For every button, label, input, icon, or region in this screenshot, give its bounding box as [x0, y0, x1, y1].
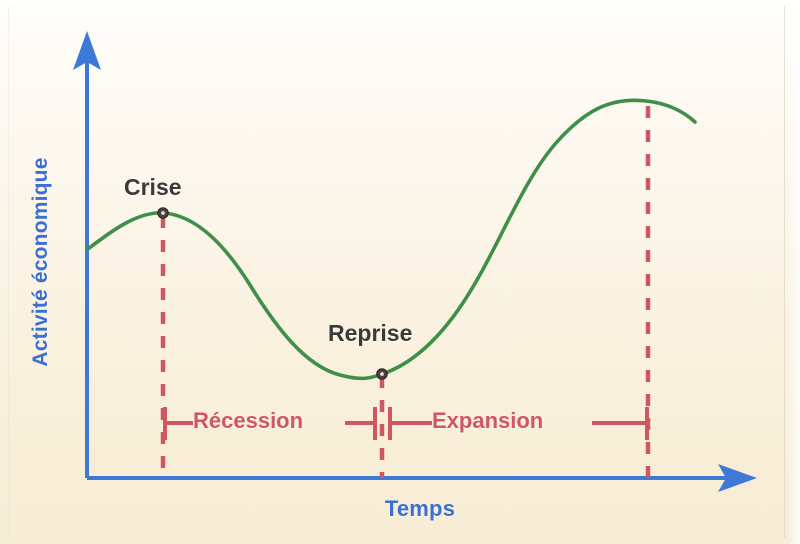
x-axis-label: Temps [330, 496, 510, 522]
economic-cycle-diagram: Activité économique Temps Crise Reprise … [0, 0, 800, 544]
point-markers-group [158, 208, 387, 379]
chart-canvas [0, 0, 800, 544]
curve-point-label-reprise: Reprise [328, 320, 412, 347]
phase-label-recession: Récession [193, 408, 303, 434]
phase-label-expansion: Expansion [432, 408, 543, 434]
y-axis-label: Activité économique [29, 152, 53, 372]
marker-crise-inner [161, 211, 165, 215]
curve-point-label-crise: Crise [124, 174, 182, 201]
marker-reprise-inner [380, 372, 384, 376]
